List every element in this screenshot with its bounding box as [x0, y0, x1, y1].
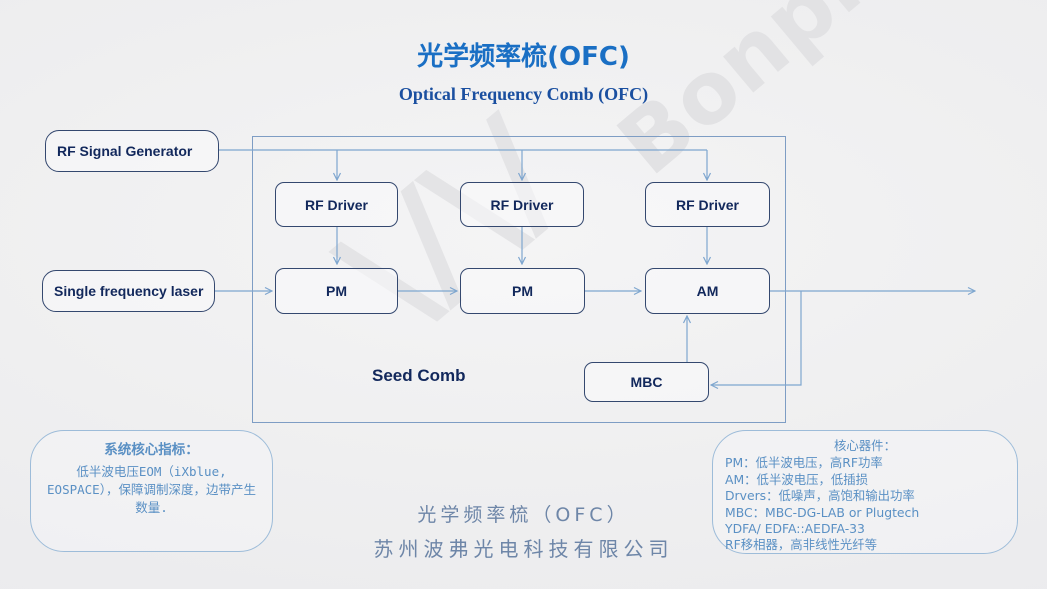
block-mbc-label: MBC: [631, 374, 663, 390]
block-mbc[interactable]: MBC: [584, 362, 709, 402]
diagram-canvas: \/\/ Bonphot 光学频率梳(OFC) Optical Frequenc…: [0, 0, 1047, 589]
block-amplitude-modulator-label: AM: [697, 283, 719, 299]
block-rf-driver-1-label: RF Driver: [305, 197, 368, 213]
block-rf-driver-1[interactable]: RF Driver: [275, 182, 398, 227]
block-rf-driver-3-label: RF Driver: [676, 197, 739, 213]
block-phase-modulator-2-label: PM: [512, 283, 533, 299]
input-single-frequency-laser[interactable]: Single frequency laser: [42, 270, 215, 312]
block-rf-driver-3[interactable]: RF Driver: [645, 182, 770, 227]
block-phase-modulator-1-label: PM: [326, 283, 347, 299]
note-system-core-specs-heading: 系统核心指标：: [41, 441, 262, 461]
page-title-english: Optical Frequency Comb (OFC): [0, 84, 1047, 105]
block-rf-driver-2[interactable]: RF Driver: [460, 182, 584, 227]
page-title-chinese: 光学频率梳(OFC): [0, 36, 1047, 73]
brand-company-name: 苏州波弗光电科技有限公司: [0, 533, 1047, 562]
brand-product-name: 光学频率梳（OFC）: [0, 500, 1047, 527]
input-rf-signal-generator[interactable]: RF Signal Generator: [45, 130, 219, 172]
block-phase-modulator-1[interactable]: PM: [275, 268, 398, 314]
note-core-components-heading: 核心器件：: [725, 438, 1005, 454]
input-single-frequency-laser-label: Single frequency laser: [54, 283, 203, 299]
note-core-components-line: AM：低半波电压，低插损: [725, 472, 1005, 488]
note-core-components-line: PM：低半波电压，高RF功率: [725, 455, 1005, 471]
block-rf-driver-2-label: RF Driver: [490, 197, 553, 213]
input-rf-signal-generator-label: RF Signal Generator: [57, 143, 192, 159]
block-amplitude-modulator[interactable]: AM: [645, 268, 770, 314]
seed-comb-label: Seed Comb: [372, 366, 466, 386]
brand-footer: 光学频率梳（OFC） 苏州波弗光电科技有限公司: [0, 500, 1047, 562]
block-phase-modulator-2[interactable]: PM: [460, 268, 585, 314]
